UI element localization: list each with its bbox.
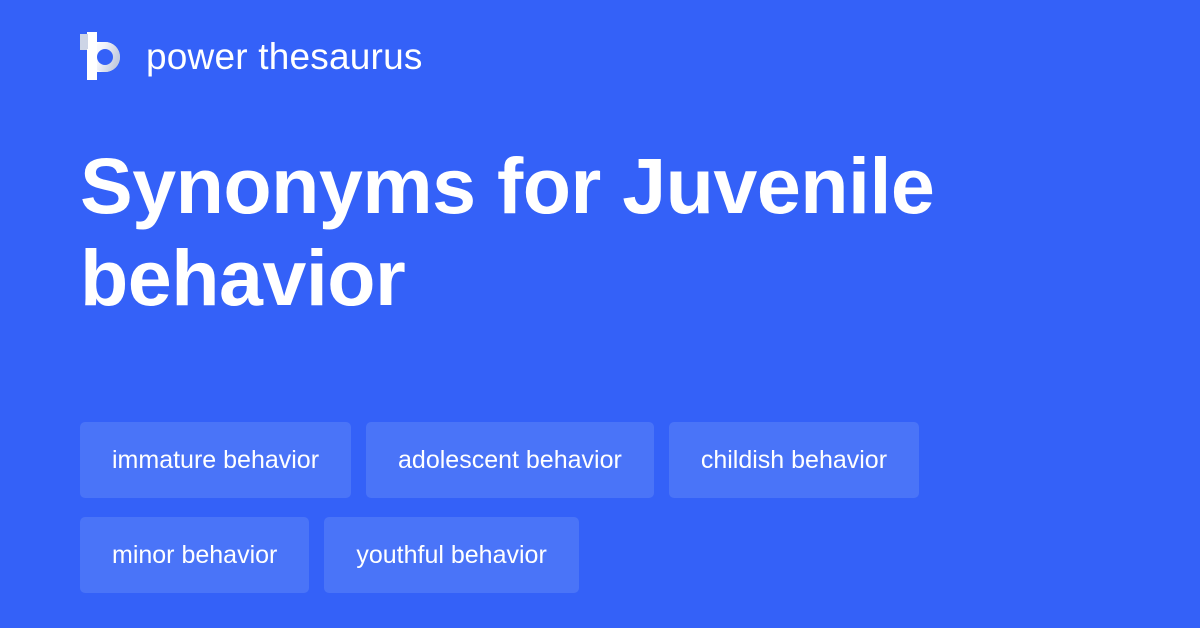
- synonym-chip[interactable]: youthful behavior: [324, 517, 578, 593]
- brand-lockup[interactable]: power thesaurus: [80, 28, 423, 84]
- synonym-chip[interactable]: minor behavior: [80, 517, 309, 593]
- synonym-chip-list: immature behavior adolescent behavior ch…: [80, 422, 1120, 593]
- share-card: power thesaurus Synonyms for Juvenile be…: [0, 0, 1200, 628]
- synonym-chip[interactable]: adolescent behavior: [366, 422, 654, 498]
- page-title: Synonyms for Juvenile behavior: [80, 140, 1080, 325]
- synonym-chip[interactable]: immature behavior: [80, 422, 351, 498]
- synonym-chip[interactable]: childish behavior: [669, 422, 919, 498]
- brand-name: power thesaurus: [146, 38, 423, 75]
- power-thesaurus-b-logo-icon: [80, 32, 124, 80]
